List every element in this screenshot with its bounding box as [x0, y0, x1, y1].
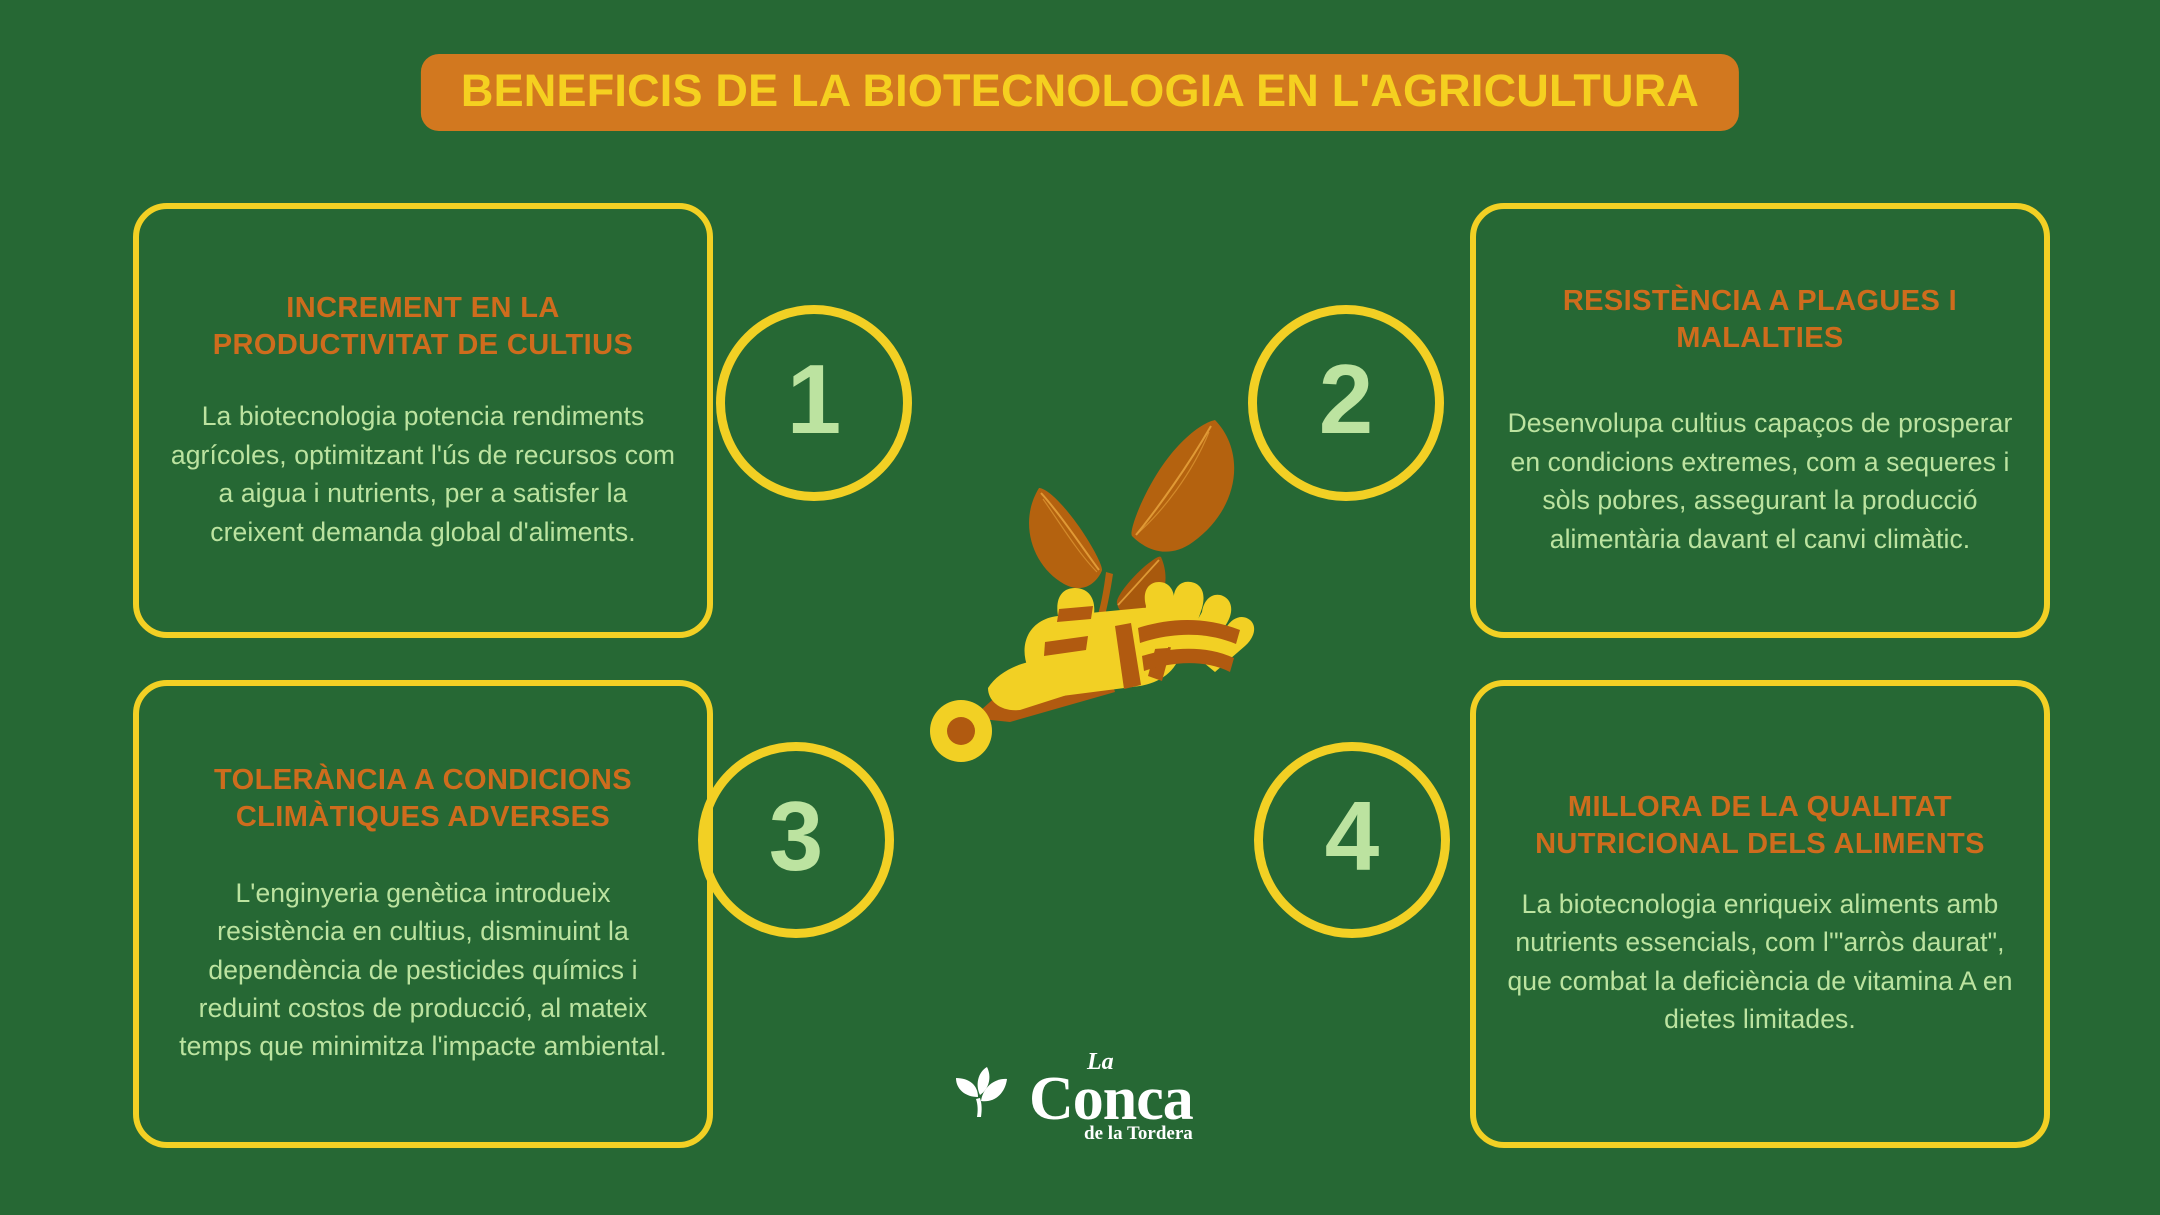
- leaf-large: [1131, 420, 1234, 552]
- benefit-card-2-heading: RESISTÈNCIA A PLAGUES I MALALTIES: [1506, 283, 2014, 357]
- page-title: BENEFICIS DE LA BIOTECNOLOGIA EN L'AGRIC…: [461, 68, 1699, 113]
- number-badge-1-label: 1: [787, 350, 842, 448]
- benefit-card-2-body: Desenvolupa cultius capaços de prosperar…: [1506, 404, 2014, 558]
- benefit-card-1-heading: INCREMENT EN LA PRODUCTIVITAT DE CULTIUS: [169, 290, 677, 364]
- benefit-card-3-body: L'enginyeria genètica introdueix resistè…: [169, 874, 677, 1066]
- number-badge-2-label: 2: [1319, 350, 1374, 448]
- leaf-medium: [1029, 488, 1102, 588]
- benefit-card-4-heading: MILLORA DE LA QUALITAT NUTRICIONAL DELS …: [1506, 789, 2014, 863]
- benefit-card-2: RESISTÈNCIA A PLAGUES I MALALTIES Desenv…: [1470, 203, 2050, 638]
- title-banner: BENEFICIS DE LA BIOTECNOLOGIA EN L'AGRIC…: [421, 54, 1739, 131]
- leaf-icon: [947, 1061, 1013, 1132]
- number-badge-4-label: 4: [1325, 787, 1380, 885]
- benefit-card-4-body: La biotecnologia enriqueix aliments amb …: [1506, 885, 2014, 1039]
- number-badge-3-label: 3: [769, 787, 824, 885]
- brand-wordmark: La Conca de la Tordera: [1029, 1050, 1193, 1143]
- number-badge-3: 3: [698, 742, 894, 938]
- benefit-card-1: INCREMENT EN LA PRODUCTIVITAT DE CULTIUS…: [133, 203, 713, 638]
- benefit-card-1-body: La biotecnologia potencia rendiments agr…: [169, 397, 677, 551]
- number-badge-1: 1: [716, 305, 912, 501]
- infographic-canvas: BENEFICIS DE LA BIOTECNOLOGIA EN L'AGRIC…: [0, 0, 2160, 1215]
- brand-logo: La Conca de la Tordera: [947, 1050, 1193, 1143]
- brand-word-conca: Conca: [1029, 1068, 1193, 1130]
- benefit-card-4: MILLORA DE LA QUALITAT NUTRICIONAL DELS …: [1470, 680, 2050, 1148]
- benefit-card-3-heading: TOLERÀNCIA A CONDICIONS CLIMÀTIQUES ADVE…: [169, 762, 677, 836]
- benefit-card-3: TOLERÀNCIA A CONDICIONS CLIMÀTIQUES ADVE…: [133, 680, 713, 1148]
- brand-word-sub: de la Tordera: [1084, 1124, 1193, 1143]
- robot-fingers: [1138, 582, 1254, 672]
- robotic-hand-with-leaves-illustration: [910, 400, 1310, 800]
